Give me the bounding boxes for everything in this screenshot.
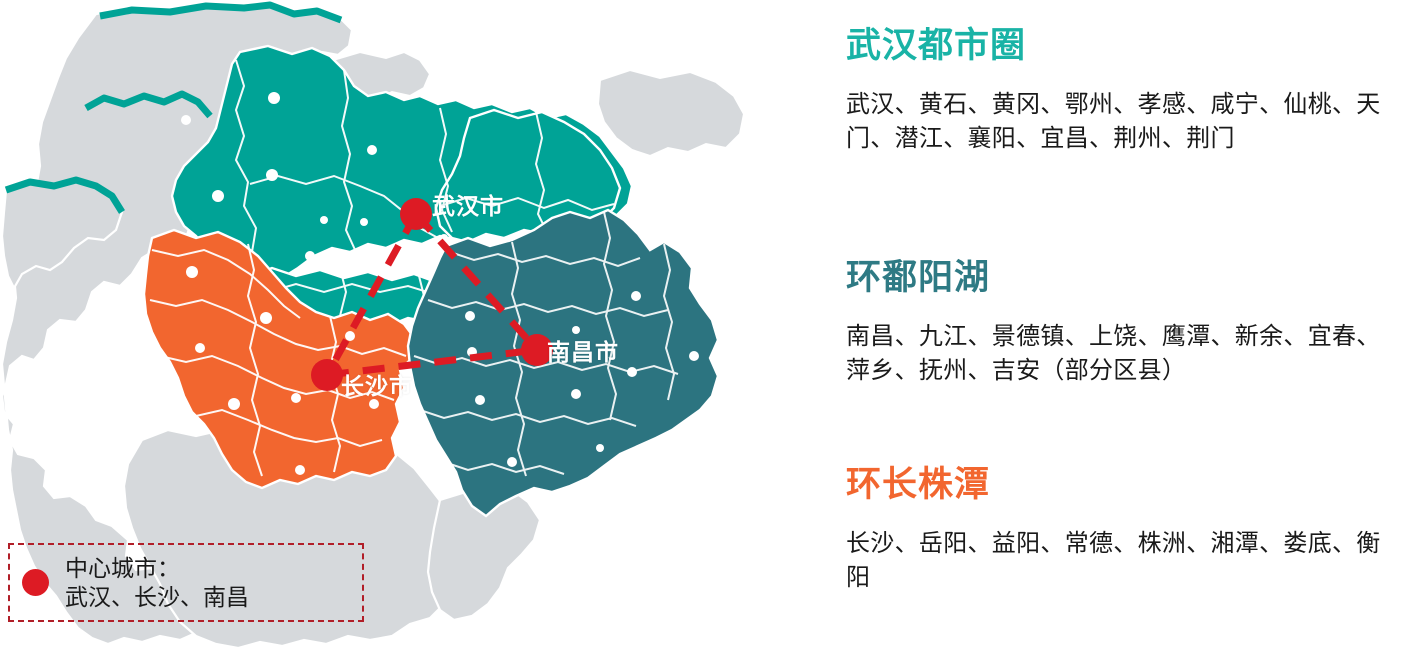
map-label-nanchang: 南昌市 [547, 341, 619, 364]
zone-cities-poyang: 南昌、九江、景德镇、上饶、鹰潭、新余、宜春、萍乡、抚州、吉安（部分区县） [846, 320, 1391, 388]
region-anhui-sliver [598, 70, 744, 156]
legend-center-city-dot-icon [22, 569, 49, 596]
infographic-page: 武汉市 长沙市 南昌市 中心城市： 武汉、长沙、南昌 武汉都市圈 武汉、黄石、黄… [0, 0, 1426, 651]
legend-title: 中心城市： [65, 554, 249, 583]
map-legend: 中心城市： 武汉、长沙、南昌 [8, 543, 364, 622]
zone-list-panel: 武汉都市圈 武汉、黄石、黄冈、鄂州、孝感、咸宁、仙桃、天门、潜江、襄阳、宜昌、荆… [846, 0, 1416, 651]
zone-title-poyang: 环鄱阳湖 [846, 258, 1406, 298]
marker-wuhan[interactable] [400, 198, 432, 230]
zone-block-wuhan: 武汉都市圈 武汉、黄石、黄冈、鄂州、孝感、咸宁、仙桃、天门、潜江、襄阳、宜昌、荆… [846, 26, 1406, 156]
legend-text-group: 中心城市： 武汉、长沙、南昌 [65, 554, 249, 612]
map-label-changsha: 长沙市 [341, 375, 413, 398]
zone-cities-changzhutan: 长沙、岳阳、益阳、常德、株洲、湘潭、娄底、衡阳 [846, 527, 1391, 595]
map-panel: 武汉市 长沙市 南昌市 中心城市： 武汉、长沙、南昌 [0, 0, 800, 651]
zone-title-wuhan: 武汉都市圈 [846, 26, 1406, 66]
map-label-wuhan: 武汉市 [432, 195, 504, 218]
legend-cities: 武汉、长沙、南昌 [65, 583, 249, 612]
zone-cities-wuhan: 武汉、黄石、黄冈、鄂州、孝感、咸宁、仙桃、天门、潜江、襄阳、宜昌、荆州、荆门 [846, 88, 1391, 156]
zone-block-changzhutan: 环长株潭 长沙、岳阳、益阳、常德、株洲、湘潭、娄底、衡阳 [846, 465, 1406, 595]
zone-block-poyang: 环鄱阳湖 南昌、九江、景德镇、上饶、鹰潭、新余、宜春、萍乡、抚州、吉安（部分区县… [846, 258, 1406, 388]
zone-title-changzhutan: 环长株潭 [846, 465, 1406, 505]
marker-changsha[interactable] [311, 359, 343, 391]
